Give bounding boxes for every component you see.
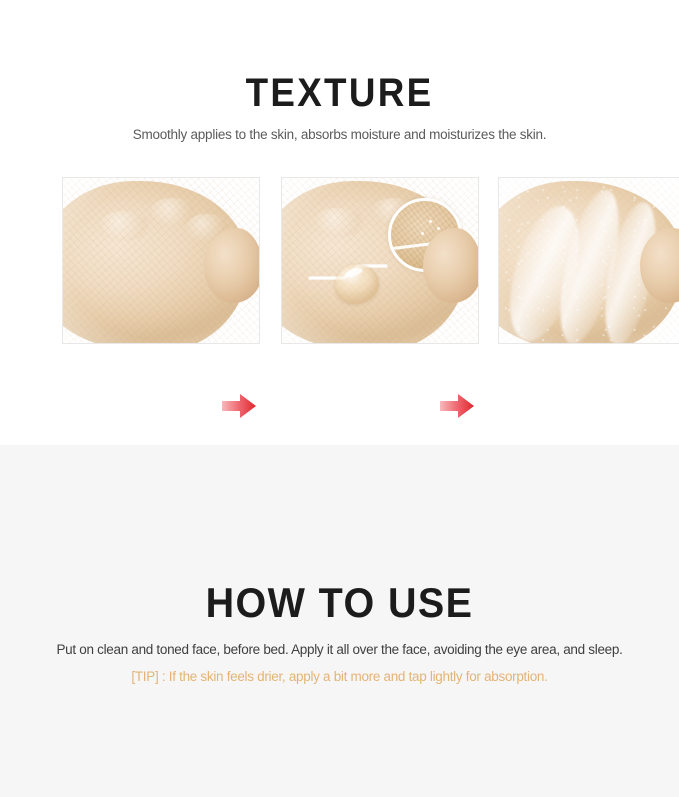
how-to-use-heading: HOW TO USE xyxy=(20,578,658,628)
skin-texture-grain xyxy=(499,178,679,343)
texture-section: TEXTURE Smoothly applies to the skin, ab… xyxy=(0,0,679,445)
texture-panel-row: Before During After xyxy=(0,161,679,328)
skin-texture-grain xyxy=(63,178,259,343)
texture-panel-during xyxy=(281,177,479,344)
gel-sheen-streak xyxy=(595,198,665,344)
photo-vignette xyxy=(63,178,259,343)
photo-vignette xyxy=(499,178,679,343)
gel-shimmer-speckles xyxy=(499,178,679,343)
arrow-before-to-during xyxy=(222,393,256,419)
knuckle-highlight xyxy=(149,198,196,226)
how-to-use-tip: [TIP] : If the skin feels drier, apply a… xyxy=(0,666,679,687)
magnified-skin-grain xyxy=(391,201,459,269)
texture-heading: TEXTURE xyxy=(27,69,652,117)
knuckle-highlight xyxy=(185,214,228,240)
magnifier-circle-icon xyxy=(388,198,462,272)
hand-skin-after-icon xyxy=(499,178,679,343)
product-detail-page: TEXTURE Smoothly applies to the skin, ab… xyxy=(0,0,679,797)
sparkle-dot xyxy=(429,220,432,223)
texture-panel-after xyxy=(498,177,679,344)
knuckle-highlight xyxy=(98,211,149,241)
how-to-use-instruction: Put on clean and toned face, before bed.… xyxy=(0,639,679,660)
hand-skin-before-icon xyxy=(63,178,259,343)
sparkle-dot xyxy=(437,227,440,230)
texture-subtitle: Smoothly applies to the skin, absorbs mo… xyxy=(0,125,679,145)
hand-skin-during-icon xyxy=(282,178,478,343)
arrow-during-to-after xyxy=(440,393,474,419)
knuckle-highlight xyxy=(313,208,364,238)
gel-sheen-streak xyxy=(548,185,629,344)
texture-panel-before xyxy=(62,177,260,344)
sparkle-dot xyxy=(421,232,424,235)
gel-sheen-streak xyxy=(498,199,591,344)
